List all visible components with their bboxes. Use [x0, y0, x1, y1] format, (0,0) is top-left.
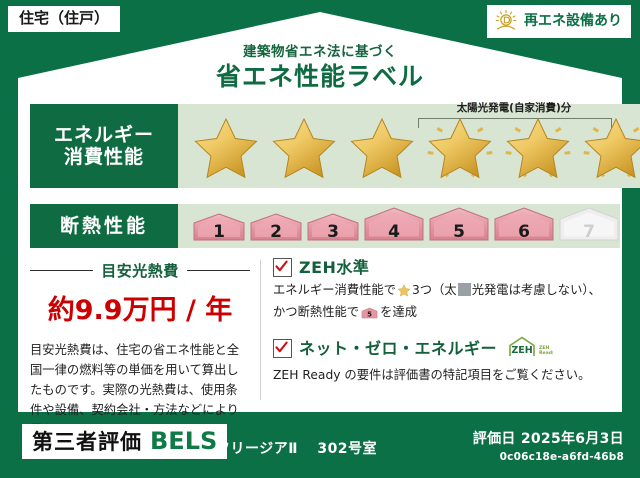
grade-badge: 6 [493, 206, 555, 246]
net-zero-checkbox[interactable] [273, 339, 292, 358]
room-number: 302号室 [317, 441, 377, 457]
star-icon [346, 111, 418, 181]
zeh-standard-description: エネルギー消費性能で 3つ（太光発電は考慮しない）、かつ断熱性能で 5 を達成 [273, 281, 610, 327]
evaluation-date: 評価日 2025年6月3日 [473, 428, 624, 448]
star-solar-icon [424, 111, 496, 181]
page-title: 省エネ性能ラベル [0, 57, 640, 93]
check-icon [275, 341, 288, 354]
utility-cost-value: 約9.9万円 / 年 [30, 288, 250, 327]
energy-stars-panel: 太陽光発電(自家消費)分 [178, 104, 640, 188]
certification-column: ZEH水準 エネルギー消費性能で 3つ（太光発電は考慮しない）、かつ断熱性能で … [273, 258, 610, 408]
bels-jp-label: 第三者評価 [32, 432, 142, 453]
grade-badge-inactive: 7 [558, 206, 620, 246]
grade-badge: 2 [249, 212, 303, 246]
column-divider [260, 260, 261, 400]
energy-performance-row: エネルギー 消費性能 太陽光発電(自家消費)分 [30, 104, 610, 188]
svg-text:ZEH: ZEH [511, 345, 532, 356]
star-solar-icon [502, 111, 574, 181]
energy-performance-label: エネルギー 消費性能 [30, 104, 178, 188]
inline-grade-badge: 5 [361, 306, 378, 326]
energy-performance-label: 住宅（住戸） 再エネ設備あり 建築物省エネ法に基づく 省エネ性能 [0, 0, 640, 478]
net-zero-title: ネット・ゼロ・エネルギー [299, 341, 497, 357]
net-zero-header: ネット・ゼロ・エネルギー ZEH ZEH Ready [273, 336, 610, 362]
grade-badge: 3 [306, 212, 360, 246]
building-name: フリージアⅡ [216, 441, 298, 457]
grade-number: 7 [558, 224, 620, 241]
zeh-standard-title: ZEH水準 [299, 260, 369, 276]
grade-number: 6 [493, 224, 555, 241]
net-zero-description: ZEH Ready の要件は評価書の特記項目をご覧ください。 [273, 366, 610, 385]
renewable-badge-label: 再エネ設備あり [524, 14, 622, 28]
building-info: フリージアⅡ 302号室 [216, 438, 377, 458]
grade-badge: 4 [363, 206, 425, 246]
svg-text:Ready: Ready [539, 350, 553, 356]
zeh-house-logo: ZEH ZEH Ready [507, 336, 553, 362]
bels-en-label: BELS [150, 429, 217, 453]
star-icon [190, 111, 262, 181]
label-footer: 第三者評価 BELS フリージアⅡ 302号室 評価日 2025年6月3日 0c… [0, 412, 640, 478]
grade-number: 3 [306, 224, 360, 241]
utility-cost-heading-text: 目安光熱費 [101, 260, 179, 281]
star-solar-icon [580, 111, 640, 181]
svg-text:5: 5 [367, 311, 372, 319]
grade-badge-list: 1 2 3 [178, 206, 620, 246]
check-icon [275, 260, 288, 273]
zeh-text-part4: を達成 [380, 305, 417, 319]
grade-badge: 5 [428, 206, 490, 246]
energy-label-line1: エネルギー [54, 124, 154, 146]
renewable-equipment-badge: 再エネ設備あり [487, 5, 631, 38]
insulation-grades-panel: 1 2 3 [178, 204, 620, 248]
star-icon [268, 111, 340, 181]
net-zero-energy-item: ネット・ゼロ・エネルギー ZEH ZEH Ready ZEH Ready の要件… [273, 336, 610, 385]
insulation-performance-label: 断熱性能 [30, 204, 178, 248]
star-rating [178, 111, 640, 181]
zeh-text-part2: 3つ（太 [412, 283, 457, 297]
category-tag: 住宅（住戸） [8, 6, 120, 32]
zeh-standard-header: ZEH水準 [273, 258, 610, 277]
zeh-standard-checkbox[interactable] [273, 258, 292, 277]
redacted-character [458, 283, 471, 296]
insulation-performance-row: 断熱性能 1 [30, 204, 610, 248]
heading-rule-left [30, 270, 93, 271]
grade-number: 5 [428, 224, 490, 241]
grade-badge: 1 [192, 212, 246, 246]
zeh-standard-item: ZEH水準 エネルギー消費性能で 3つ（太光発電は考慮しない）、かつ断熱性能で … [273, 258, 610, 327]
zeh-text-part1: エネルギー消費性能で [273, 283, 396, 297]
grade-number: 1 [192, 224, 246, 241]
utility-cost-column: 目安光熱費 約9.9万円 / 年 目安光熱費は、住宅の省エネ性能と全国一律の燃料… [30, 258, 250, 408]
solar-sun-icon [493, 9, 519, 33]
evaluation-id: 0c06c18e-a6fd-46b8 [473, 451, 624, 463]
bels-certification-box: 第三者評価 BELS [22, 424, 227, 459]
bottom-section: 目安光熱費 約9.9万円 / 年 目安光熱費は、住宅の省エネ性能と全国一律の燃料… [30, 258, 610, 408]
inline-star-icon [397, 283, 411, 303]
utility-cost-heading: 目安光熱費 [30, 258, 250, 281]
heading-rule-right [187, 270, 250, 271]
evaluation-info: 評価日 2025年6月3日 0c06c18e-a6fd-46b8 [473, 428, 624, 463]
grade-number: 2 [249, 224, 303, 241]
grade-number: 4 [363, 224, 425, 241]
energy-label-line2: 消費性能 [64, 146, 144, 168]
